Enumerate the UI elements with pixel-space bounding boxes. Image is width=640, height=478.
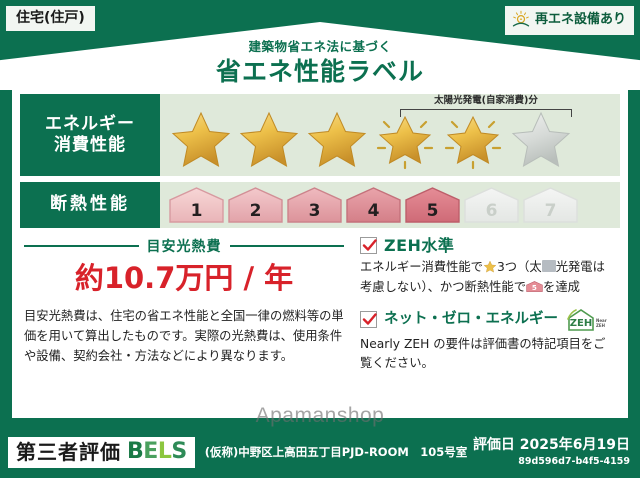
zeh-text-part3: を達成 [543, 280, 580, 294]
zeh-standard-title: ZEH水準 [384, 236, 454, 255]
energy-cost-value: 約10.7万円 / 年 [24, 262, 344, 295]
svg-text:ZEH: ZEH [570, 318, 592, 329]
footer-bar: 第三者評価 BELS (仮称)中野区上高田五丁目PJD-ROOM 105号室 評… [0, 426, 640, 478]
star-filled-2 [236, 108, 302, 170]
bels-logo: BELS [127, 441, 187, 463]
insulation-level-3-number: 3 [286, 186, 343, 224]
sun-icon [511, 10, 531, 30]
insulation-performance-row: 断熱性能 1 [20, 182, 620, 228]
housing-type-tag: 住宅(住戸) [6, 6, 95, 31]
insulation-level-7: 7 [522, 186, 579, 224]
insulation-level-5: 5 [404, 186, 461, 224]
check-icon [362, 238, 377, 253]
zeh-text-star: 3つ（太 [497, 260, 542, 274]
inline-star-icon [483, 260, 497, 273]
insulation-level-7-number: 7 [522, 186, 579, 224]
bels-letter-b: B [127, 439, 143, 464]
check-icon [362, 312, 377, 327]
zeh-standard-block: ZEH水準 エネルギー消費性能で3つ（太光発電は考慮しない）、かつ断熱性能で5を… [360, 236, 616, 298]
star-filled-solar-4 [372, 108, 438, 170]
insulation-level-scale: 1 2 [168, 186, 579, 224]
certification-column: ZEH水準 エネルギー消費性能で3つ（太光発電は考慮しない）、かつ断熱性能で5を… [350, 232, 620, 384]
zeh-house-logo-icon: ZEH Nearly ZEH [567, 308, 607, 332]
insulation-performance-body: 1 2 [160, 182, 620, 228]
label-subtitle: 建築物省エネ法に基づく [0, 40, 640, 54]
net-zero-energy-checkbox [360, 311, 377, 328]
evaluation-info: 評価日 2025年6月19日 89d596d7-b4f5-4159 [473, 437, 630, 467]
insulation-level-4-number: 4 [345, 186, 402, 224]
insulation-performance-label: 断熱性能 [20, 182, 160, 228]
energy-cost-heading-text: 目安光熱費 [147, 236, 222, 256]
energy-cost-column: 目安光熱費 約10.7万円 / 年 目安光熱費は、住宅の省エネ性能と全国一律の燃… [20, 232, 350, 384]
insulation-level-3: 3 [286, 186, 343, 224]
solar-generation-note: 太陽光発電(自家消費)分 [388, 96, 584, 106]
energy-performance-row: エネルギー 消費性能 太陽光発電(自家消費)分 [20, 94, 620, 176]
energy-performance-label: エネルギー 消費性能 [20, 94, 160, 176]
star-rating [168, 108, 574, 170]
label-title-block: 建築物省エネ法に基づく 省エネ性能ラベル [0, 40, 640, 87]
insulation-level-6-number: 6 [463, 186, 520, 224]
label-title: 省エネ性能ラベル [0, 56, 640, 87]
housing-type-label: 住宅(住戸) [16, 10, 85, 26]
insulation-level-6: 6 [463, 186, 520, 224]
net-zero-energy-title: ネット・ゼロ・エネルギー [384, 311, 558, 328]
energy-performance-label-line2: 消費性能 [54, 135, 126, 156]
lower-section: 目安光熱費 約10.7万円 / 年 目安光熱費は、住宅の省エネ性能と全国一律の燃… [20, 232, 620, 384]
insulation-level-2: 2 [227, 186, 284, 224]
star-empty-6 [508, 108, 574, 170]
energy-cost-heading: 目安光熱費 [24, 236, 344, 256]
bels-letter-s: S [171, 439, 186, 464]
cost-rule-right [230, 245, 345, 247]
insulation-level-2-number: 2 [227, 186, 284, 224]
evaluation-id: 89d596d7-b4f5-4159 [473, 456, 630, 467]
insulation-level-1: 1 [168, 186, 225, 224]
energy-cost-note: 目安光熱費は、住宅の省エネ性能と全国一律の燃料等の単価を用いて算出したものです。… [24, 307, 344, 367]
star-filled-1 [168, 108, 234, 170]
label-card: エネルギー 消費性能 太陽光発電(自家消費)分 [12, 88, 628, 418]
net-zero-energy-block: ネット・ゼロ・エネルギー ZEH Nearly ZEH Nearly ZEH の… [360, 308, 616, 374]
solar-span-bracket [400, 109, 572, 117]
zeh-standard-checkbox [360, 237, 377, 254]
bels-jp-label: 第三者評価 [16, 442, 121, 462]
zeh-text-part1: エネルギー消費性能で [360, 260, 483, 274]
evaluation-date: 評価日 2025年6月19日 [473, 437, 630, 454]
renewable-badge-label: 再エネ設備あり [535, 13, 626, 28]
net-zero-energy-text: Nearly ZEH の要件は評価書の特記項目をご覧ください。 [360, 335, 616, 374]
zeh-standard-heading: ZEH水準 [360, 236, 616, 255]
energy-performance-body: 太陽光発電(自家消費)分 [160, 94, 620, 176]
insulation-level-5-number: 5 [404, 186, 461, 224]
zeh-standard-text: エネルギー消費性能で3つ（太光発電は考慮しない）、かつ断熱性能で5を達成 [360, 258, 616, 297]
bels-certification-box: 第三者評価 BELS [8, 437, 195, 468]
property-address: (仮称)中野区上高田五丁目PJD-ROOM 105号室 [205, 444, 468, 460]
svg-text:ZEH: ZEH [596, 323, 605, 328]
star-filled-solar-5 [440, 108, 506, 170]
cost-rule-left [24, 245, 139, 247]
energy-performance-label-line1: エネルギー [45, 114, 135, 135]
svg-text:5: 5 [532, 283, 537, 292]
renewable-equipment-badge: 再エネ設備あり [505, 6, 634, 35]
net-zero-energy-heading: ネット・ゼロ・エネルギー ZEH Nearly ZEH [360, 308, 616, 332]
insulation-level-1-number: 1 [168, 186, 225, 224]
energy-label-root: 住宅(住戸) 再エネ設備あり 建築物省エネ法に基づく 省エネ性能ラベル エネルギ… [0, 0, 640, 478]
inline-insulation-level-icon: 5 [526, 280, 543, 293]
insulation-level-4: 4 [345, 186, 402, 224]
bels-letter-e: E [143, 439, 158, 464]
bels-letter-l: L [158, 439, 172, 464]
insulation-label-text: 断熱性能 [50, 194, 130, 215]
redacted-character [542, 260, 556, 272]
star-filled-3 [304, 108, 370, 170]
